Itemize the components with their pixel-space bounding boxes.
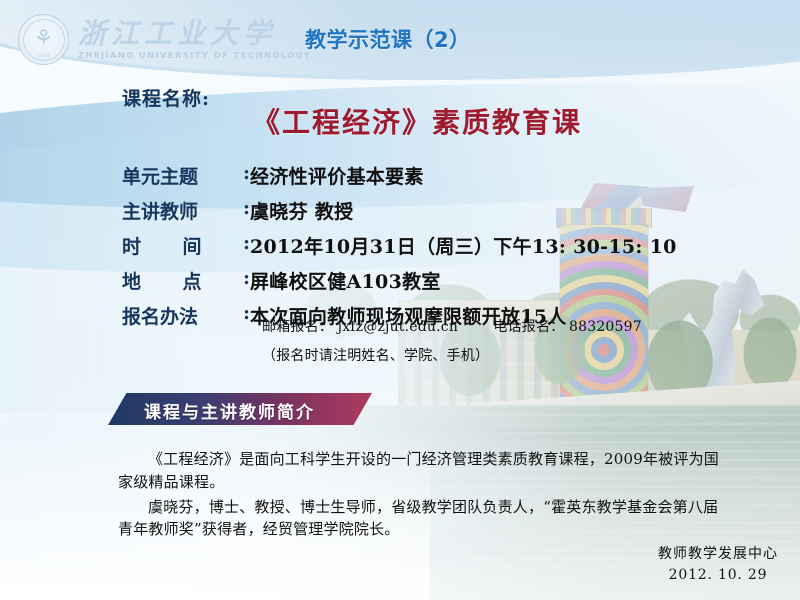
info-value-location: 屏峰校区健A103教室	[250, 267, 441, 294]
info-label-topic-colon: :	[243, 162, 250, 189]
section-body: 《工程经济》是面向工科学生开设的一门经济管理类素质教育课程，2009年被评为国家…	[118, 448, 728, 543]
info-label-time-a: 时	[122, 232, 141, 259]
series-title: 教学示范课（2）	[305, 24, 471, 54]
page-title: 《工程经济》素质教育课	[252, 101, 582, 141]
info-label-registration-colon: :	[243, 302, 250, 329]
info-label-registration: 报名办法 :	[122, 302, 250, 329]
university-name-cn: 浙江工业大学	[78, 19, 311, 48]
info-label-location-colon: :	[243, 267, 250, 294]
info-label-registration-a: 报名办法	[122, 302, 198, 329]
contact-line: 邮箱报名： jxfz@zjut.edu.cn 电话报名： 88320597	[262, 316, 642, 336]
info-label-time: 时 间 :	[122, 232, 250, 259]
info-label-time-b: 间	[182, 232, 201, 259]
info-label-time-colon: :	[243, 232, 250, 259]
info-value-lecturer: 虞晓芬 教授	[250, 197, 353, 224]
info-list: 单元主题 : 经济性评价基本要素 主讲教师 : 虞晓芬 教授 时 间 : 201…	[122, 162, 782, 337]
info-label-lecturer: 主讲教师 :	[122, 197, 250, 224]
section-banner-label: 课程与主讲教师简介	[144, 398, 315, 423]
university-logo: ⚘ 1953 浙江工业大学 ZHEJIANG UNIVERSITY OF TEC…	[18, 14, 311, 65]
university-seal-icon: ⚘ 1953	[18, 14, 69, 65]
course-name-label: 课程名称:	[122, 84, 210, 111]
registration-note: （报名时请注明姓名、学院、手机）	[262, 345, 489, 365]
info-label-topic: 单元主题 :	[122, 162, 250, 189]
seal-glyph: ⚘	[34, 28, 54, 50]
footer-signature: 教师教学发展中心 2012. 10. 29	[658, 544, 778, 586]
email-address[interactable]: jxfz@zjut.edu.cn	[338, 319, 458, 335]
seal-year: 1953	[37, 54, 50, 59]
info-label-topic-a: 单元主题	[122, 162, 198, 189]
info-label-location-b: 点	[182, 267, 201, 294]
poster-slide: ⚘ 1953 浙江工业大学 ZHEJIANG UNIVERSITY OF TEC…	[0, 0, 800, 600]
info-label-lecturer-a: 主讲教师	[122, 197, 198, 224]
info-row-location: 地 点 : 屏峰校区健A103教室	[122, 267, 782, 298]
university-wordmark: 浙江工业大学 ZHEJIANG UNIVERSITY OF TECHNOLOGY	[78, 19, 311, 60]
paragraph-course-intro: 《工程经济》是面向工科学生开设的一门经济管理类素质教育课程，2009年被评为国家…	[118, 448, 728, 494]
university-name-en: ZHEJIANG UNIVERSITY OF TECHNOLOGY	[78, 50, 311, 60]
info-value-time: 2012年10月31日（周三）下午13: 30-15: 10	[250, 232, 677, 259]
info-row-topic: 单元主题 : 经济性评价基本要素	[122, 162, 782, 193]
footer-date: 2012. 10. 29	[658, 565, 778, 586]
email-label: 邮箱报名：	[262, 319, 333, 335]
phone-number[interactable]: 88320597	[569, 319, 642, 335]
info-label-location-a: 地	[122, 267, 141, 294]
info-row-lecturer: 主讲教师 : 虞晓芬 教授	[122, 197, 782, 228]
paragraph-lecturer-bio: 虞晓芬，博士、教授、博士生导师，省级教学团队负责人，“霍英东教学基金会第八届青年…	[118, 496, 728, 542]
phone-label: 电话报名：	[493, 319, 564, 335]
info-row-time: 时 间 : 2012年10月31日（周三）下午13: 30-15: 10	[122, 232, 782, 263]
info-label-location: 地 点 :	[122, 267, 250, 294]
footer-organization: 教师教学发展中心	[658, 544, 778, 565]
info-label-lecturer-colon: :	[243, 197, 250, 224]
info-value-topic: 经济性评价基本要素	[250, 162, 424, 189]
